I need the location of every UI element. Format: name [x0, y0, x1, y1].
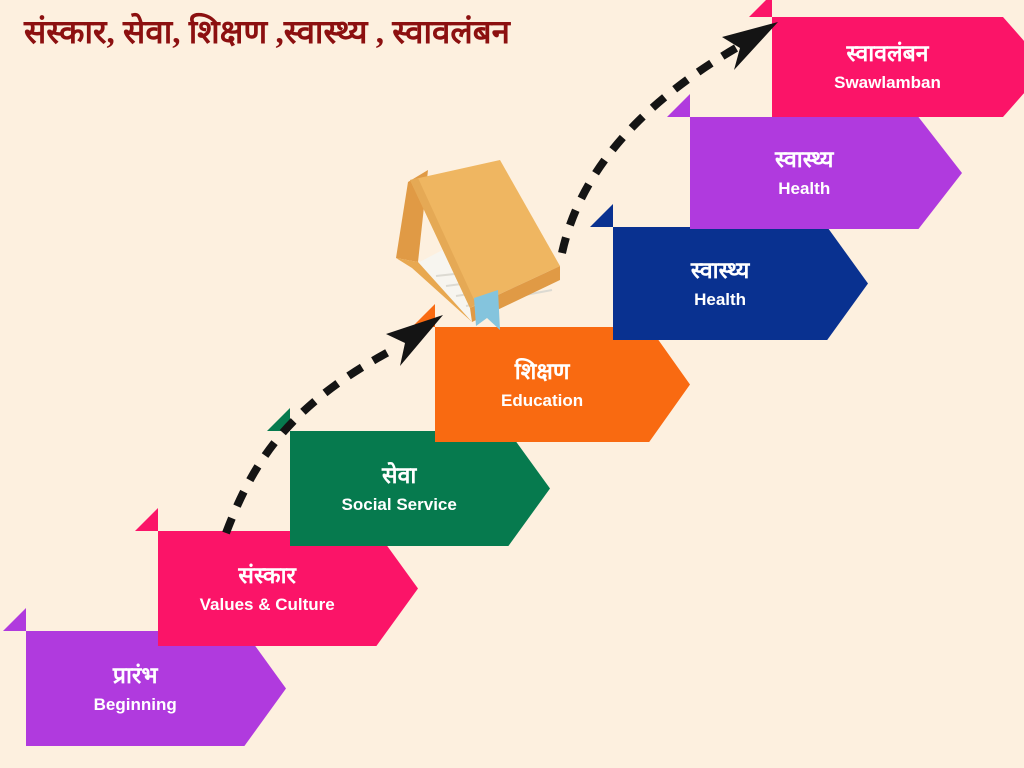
banner-shape	[26, 631, 286, 746]
step-banner-prarambh[interactable]: प्रारंभ Beginning	[26, 631, 286, 746]
infographic-canvas: संस्कार, सेवा, शिक्षण ,स्वास्थ्य , स्वाव…	[0, 0, 1024, 768]
banner-corner-tab	[3, 608, 26, 631]
book-icon	[388, 158, 566, 330]
step-banner-swasthya-blue[interactable]: स्वास्थ्य Health	[613, 227, 868, 340]
banner-shape	[290, 431, 550, 546]
banner-shape	[435, 327, 690, 442]
step-banner-swawlamban[interactable]: स्वावलंबन Swawlamban	[772, 17, 1024, 117]
banner-shape	[690, 117, 962, 229]
step-banner-sanskar[interactable]: संस्कार Values & Culture	[158, 531, 418, 646]
banner-shape	[772, 17, 1024, 117]
banner-shape	[158, 531, 418, 646]
step-banner-seva[interactable]: सेवा Social Service	[290, 431, 550, 546]
banner-corner-tab	[667, 94, 690, 117]
banner-corner-tab	[267, 408, 290, 431]
banner-shape	[613, 227, 868, 340]
step-banner-shikshan[interactable]: शिक्षण Education	[435, 327, 690, 442]
book-illustration	[388, 158, 566, 330]
page-title: संस्कार, सेवा, शिक्षण ,स्वास्थ्य , स्वाव…	[24, 8, 510, 53]
banner-corner-tab	[135, 508, 158, 531]
banner-corner-tab	[590, 204, 613, 227]
banner-corner-tab	[749, 0, 772, 17]
step-banner-swasthya-purple[interactable]: स्वास्थ्य Health	[690, 117, 962, 229]
